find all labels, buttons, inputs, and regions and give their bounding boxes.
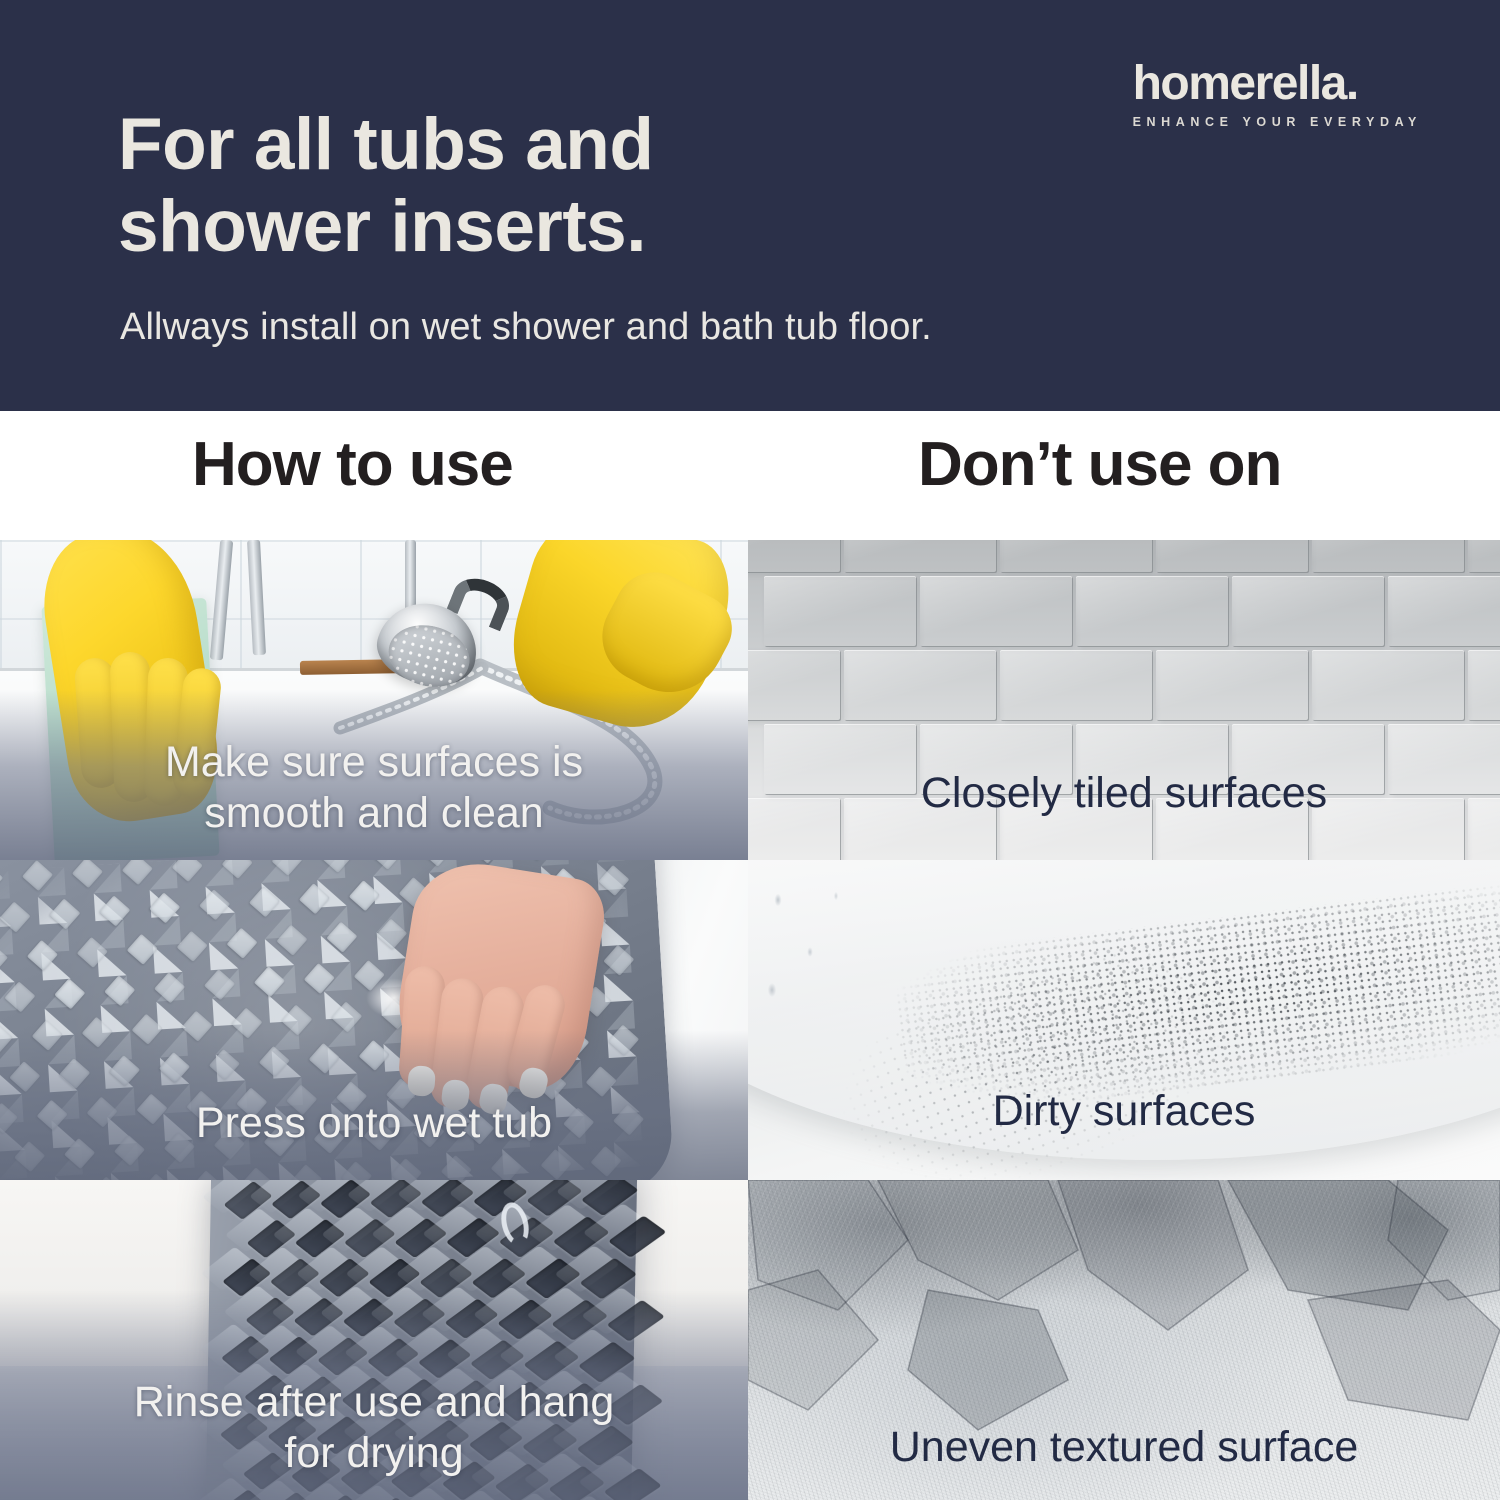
panel-rinse-and-hang: Rinse after use and hang for drying bbox=[0, 1180, 748, 1500]
page-subtitle: Allways install on wet shower and bath t… bbox=[120, 306, 1320, 349]
headline-line-1: For all tubs and bbox=[118, 104, 878, 186]
crag-facet bbox=[908, 1290, 1068, 1430]
section-title-how-to-use: How to use bbox=[192, 429, 513, 500]
panel-caption: Rinse after use and hang for drying bbox=[0, 1377, 748, 1478]
tile-row bbox=[748, 576, 1500, 650]
instruction-grid: Make sure surfaces is smooth and clean C… bbox=[0, 540, 1500, 1500]
panel-dirty-surfaces: Dirty surfaces bbox=[748, 860, 1500, 1180]
crag-facet bbox=[748, 1270, 878, 1410]
page-title: For all tubs and shower inserts. bbox=[118, 104, 878, 268]
panel-caption: Make sure surfaces is smooth and clean bbox=[0, 737, 748, 838]
crag-facet bbox=[1308, 1280, 1500, 1420]
brand-tagline: ENHANCE YOUR EVERYDAY bbox=[1133, 115, 1422, 129]
header-band: For all tubs and shower inserts. Allways… bbox=[0, 0, 1500, 411]
panel-caption: Uneven textured surface bbox=[748, 1422, 1500, 1472]
headline-line-2: shower inserts. bbox=[118, 186, 878, 268]
panel-press-onto-wet-tub: Press onto wet tub bbox=[0, 860, 748, 1180]
brand-name: homerella. bbox=[1133, 60, 1422, 108]
brand-logo: homerella. ENHANCE YOUR EVERYDAY bbox=[1133, 60, 1422, 129]
panel-caption-line-2: smooth and clean bbox=[18, 788, 730, 838]
panel-uneven-textured-surface: Uneven textured surface bbox=[748, 1180, 1500, 1500]
panel-make-sure-surfaces-clean: Make sure surfaces is smooth and clean bbox=[0, 540, 748, 860]
section-title-row: How to use Don’t use on bbox=[0, 411, 1500, 540]
tile-row bbox=[748, 650, 1500, 724]
panel-caption: Closely tiled surfaces bbox=[748, 768, 1500, 818]
section-title-dont-use-on: Don’t use on bbox=[918, 429, 1281, 500]
panel-caption-line-1: Rinse after use and hang bbox=[18, 1377, 730, 1427]
water-droplets bbox=[748, 860, 948, 1060]
panel-caption: Dirty surfaces bbox=[748, 1086, 1500, 1136]
panel-closely-tiled-surfaces: Closely tiled surfaces bbox=[748, 540, 1500, 860]
panel-caption: Press onto wet tub bbox=[0, 1098, 748, 1148]
crag-facet bbox=[1058, 1180, 1248, 1330]
panel-caption-line-2: for drying bbox=[18, 1428, 730, 1478]
tile-row bbox=[748, 540, 1500, 576]
infographic-page: For all tubs and shower inserts. Allways… bbox=[0, 0, 1500, 1500]
panel-caption-line-1: Make sure surfaces is bbox=[18, 737, 730, 787]
crag-facet bbox=[878, 1180, 1078, 1300]
